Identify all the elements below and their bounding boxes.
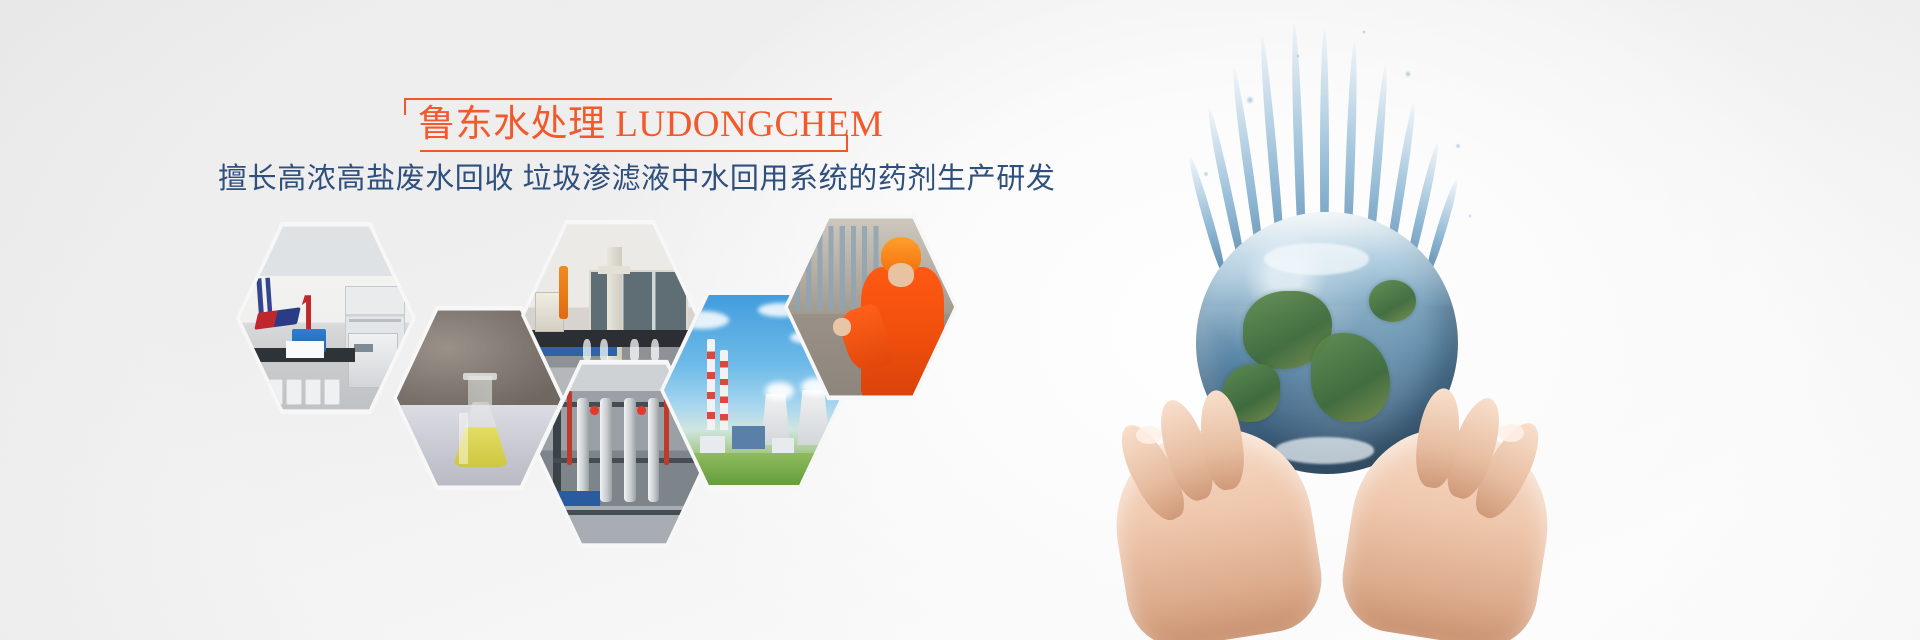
brand-subtitle: 擅长高浓高盐废水回收 垃圾渗滤液中水回用系统的药剂生产研发 bbox=[218, 158, 1008, 200]
hex-lab-room[interactable] bbox=[236, 218, 416, 418]
fingernail bbox=[1498, 424, 1524, 442]
hex-lab-room-photo bbox=[240, 223, 412, 413]
hands-holding-water-globe bbox=[1046, 0, 1606, 640]
fingernail bbox=[1136, 426, 1162, 444]
brand-title-wrap: 鲁东水处理 LUDONGCHEM bbox=[404, 96, 848, 156]
hero-banner: 鲁东水处理 LUDONGCHEM 擅长高浓高盐废水回收 垃圾渗滤液中水回用系统的… bbox=[0, 0, 1920, 640]
continent-shape bbox=[1369, 280, 1416, 322]
hex-gallery bbox=[236, 218, 956, 518]
brand-title: 鲁东水处理 LUDONGCHEM bbox=[418, 103, 883, 147]
title-bracket-bottom-icon bbox=[420, 150, 848, 152]
ice-cap bbox=[1264, 243, 1369, 274]
title-bracket-top-icon bbox=[404, 98, 832, 100]
cupped-hands bbox=[1108, 364, 1558, 640]
headline-block: 鲁东水处理 LUDONGCHEM 擅长高浓高盐废水回收 垃圾渗滤液中水回用系统的… bbox=[218, 96, 1008, 216]
